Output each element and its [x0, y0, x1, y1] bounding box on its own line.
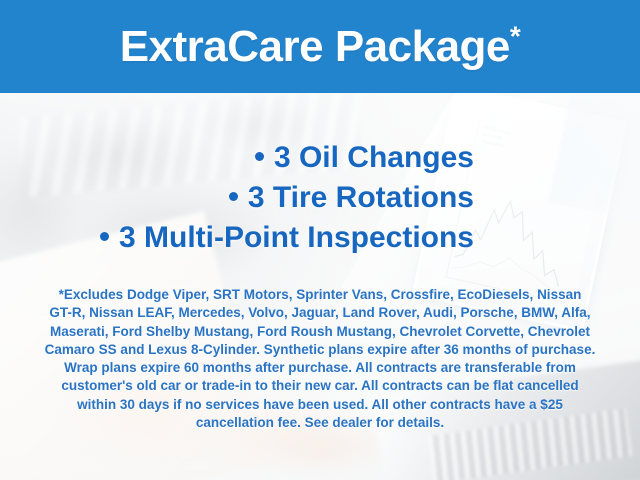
disclaimer-line: within 30 days if no services have been …: [28, 396, 612, 414]
list-item-label: 3 Oil Changes: [274, 141, 474, 174]
page-title: ExtraCare Package*: [120, 25, 521, 69]
disclaimer-line: cancellation fee. See dealer for details…: [28, 414, 612, 432]
disclaimer-line: Camaro SS and Lexus 8-Cylinder. Syntheti…: [28, 341, 612, 359]
disclaimer-line: *Excludes Dodge Viper, SRT Motors, Sprin…: [28, 286, 612, 304]
list-item: 3 Multi-Point Inspections: [0, 218, 474, 258]
list-item-label: 3 Tire Rotations: [248, 181, 474, 214]
bullet-dot-icon: [229, 192, 238, 201]
disclaimer-line: customer's old car or trade-in to their …: [28, 377, 612, 395]
list-item: 3 Tire Rotations: [0, 178, 474, 218]
disclaimer-line: Wrap plans expire 60 months after purcha…: [28, 359, 612, 377]
header-banner: ExtraCare Package*: [0, 0, 640, 93]
bullet-dot-icon: [255, 152, 264, 161]
benefits-list: 3 Oil Changes 3 Tire Rotations 3 Multi-P…: [0, 138, 474, 258]
disclaimer-text: *Excludes Dodge Viper, SRT Motors, Sprin…: [28, 286, 612, 432]
list-item: 3 Oil Changes: [0, 138, 474, 178]
disclaimer-line: Maserati, Ford Shelby Mustang, Ford Rous…: [28, 323, 612, 341]
page-title-asterisk: *: [510, 20, 520, 51]
extracare-package-promo-image: ExtraCare Package* 3 Oil Changes 3 Tire …: [0, 0, 640, 480]
disclaimer-line: GT-R, Nissan LEAF, Mercedes, Volvo, Jagu…: [28, 304, 612, 322]
list-item-label: 3 Multi-Point Inspections: [119, 221, 474, 254]
bullet-dot-icon: [100, 232, 109, 241]
page-title-text: ExtraCare Package: [120, 22, 510, 71]
